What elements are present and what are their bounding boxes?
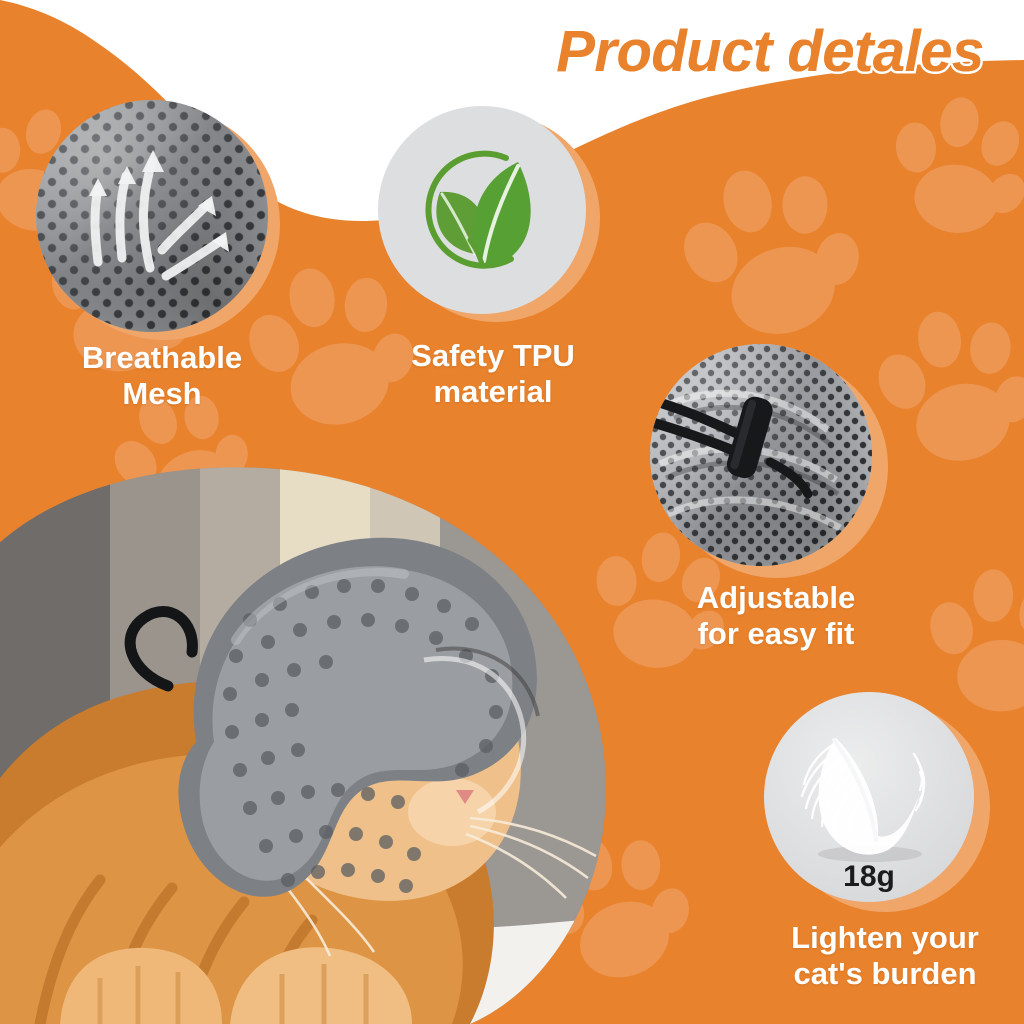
feature-breathable-mesh: Breathable Mesh (30, 92, 290, 422)
feature-caption: Lighten your cat's burden (738, 920, 1024, 991)
feature-safety-tpu: Safety TPU material (372, 100, 612, 430)
airflow-arrows-icon (36, 100, 268, 332)
feature-caption: Breathable Mesh (22, 340, 302, 411)
leaf-glyph (378, 106, 586, 314)
mesh-airflow-icon (36, 100, 268, 332)
feature-lightweight: 18g Lighten your cat's burden (750, 688, 1020, 1024)
drawstring-toggle-icon (650, 344, 872, 566)
feather-icon: 18g (764, 692, 974, 902)
feature-adjustable-fit: Adjustable for easy fit (636, 340, 916, 670)
eco-leaf-icon (378, 106, 586, 314)
page-title-fill: Product detales (520, 22, 1020, 83)
feature-caption: Safety TPU material (350, 338, 636, 409)
drawstring-cord-and-toggle (650, 344, 872, 566)
weight-label: 18g (764, 860, 974, 894)
product-detail-infographic: Product detales Product detales (0, 0, 1024, 1024)
feature-caption: Adjustable for easy fit (626, 580, 926, 651)
